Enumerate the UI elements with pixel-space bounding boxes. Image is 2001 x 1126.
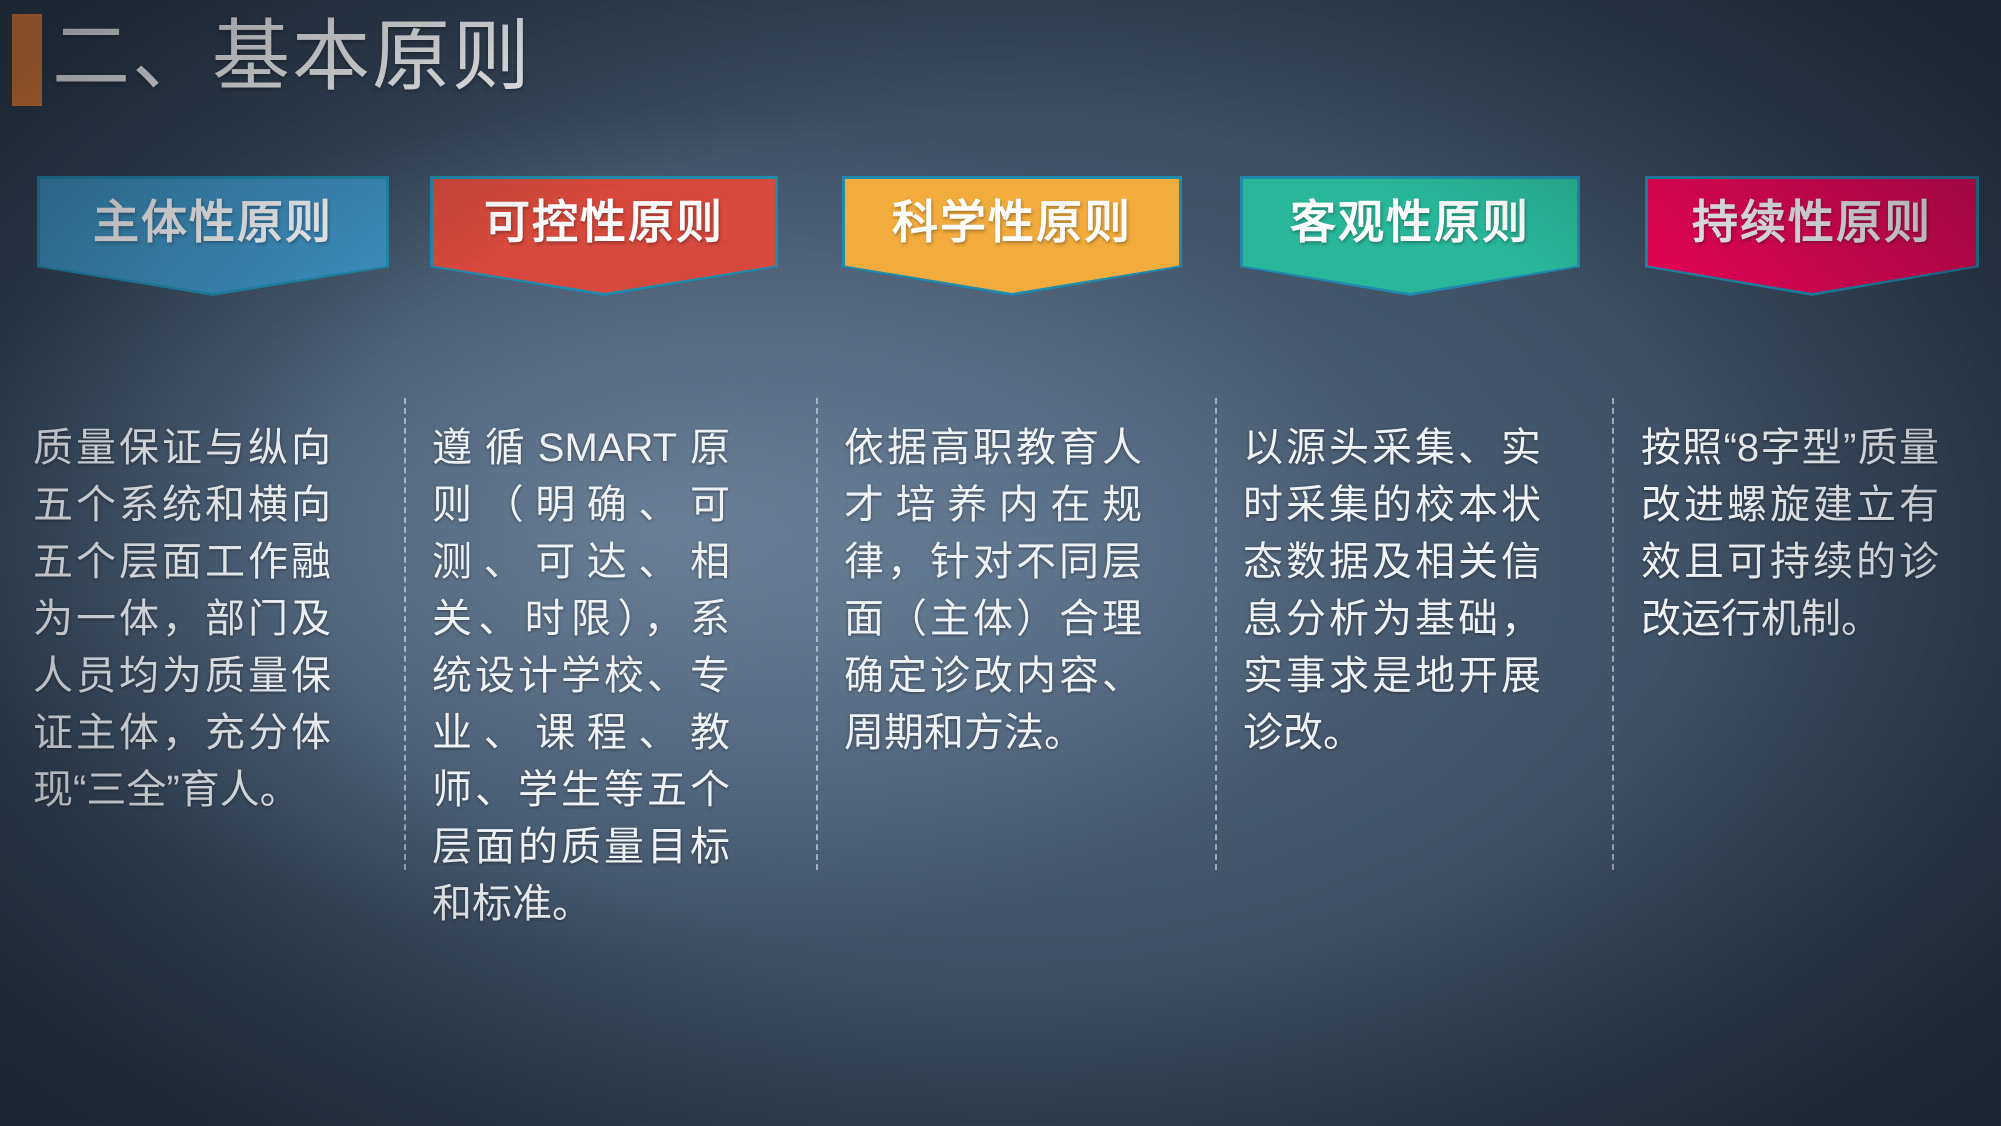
principle-label-objectivity: 客观性原则 (1290, 176, 1530, 268)
banner-inner: 科学性原则 (842, 176, 1182, 296)
principle-body-sustainability: 按照“8字型”质量改进螺旋建立有效且可持续的诊改运行机制。 (1641, 420, 1939, 648)
principle-banner-controllability[interactable]: 可控性原则 (430, 176, 778, 296)
principle-body-controllability: 遵循SMART原则（明确、可测、可达、相关、时限），系统设计学校、专业、课程、教… (432, 420, 730, 933)
principle-column-objectivity: 以源头采集、实时采集的校本状态数据及相关信息分析为基础，实事求是地开展诊改。 (1243, 420, 1541, 762)
banner-inner: 客观性原则 (1240, 176, 1580, 296)
principle-banner-scientificity[interactable]: 科学性原则 (842, 176, 1182, 296)
principle-column-sustainability: 按照“8字型”质量改进螺旋建立有效且可持续的诊改运行机制。 (1641, 420, 1939, 648)
principle-column-subjectivity: 质量保证与纵向五个系统和横向五个层面工作融为一体，部门及人员均为质量保证主体，充… (33, 420, 331, 819)
principle-body-subjectivity: 质量保证与纵向五个系统和横向五个层面工作融为一体，部门及人员均为质量保证主体，充… (33, 420, 331, 819)
column-divider-1 (404, 398, 406, 870)
principle-column-scientificity: 依据高职教育人才培养内在规律，针对不同层面（主体）合理确定诊改内容、周期和方法。 (844, 420, 1142, 762)
principle-banner-objectivity[interactable]: 客观性原则 (1240, 176, 1580, 296)
column-divider-3 (1215, 398, 1217, 870)
slide-canvas: 二、基本原则 主体性原则 可控性原则 科学性原则 客观性原则 (0, 0, 2001, 1126)
principle-label-scientificity: 科学性原则 (892, 176, 1132, 268)
banner-inner: 主体性原则 (37, 176, 389, 296)
banner-inner: 可控性原则 (430, 176, 778, 296)
principle-label-controllability: 可控性原则 (484, 176, 724, 268)
title-accent-bar (12, 14, 42, 106)
column-divider-2 (816, 398, 818, 870)
page-title: 二、基本原则 (52, 4, 532, 108)
principle-banner-sustainability[interactable]: 持续性原则 (1645, 176, 1979, 296)
slide-header: 二、基本原则 (0, 0, 2001, 120)
principle-banner-subjectivity[interactable]: 主体性原则 (37, 176, 389, 296)
principle-column-controllability: 遵循SMART原则（明确、可测、可达、相关、时限），系统设计学校、专业、课程、教… (432, 420, 730, 933)
principle-body-scientificity: 依据高职教育人才培养内在规律，针对不同层面（主体）合理确定诊改内容、周期和方法。 (844, 420, 1142, 762)
principle-label-subjectivity: 主体性原则 (93, 176, 333, 268)
banner-inner: 持续性原则 (1645, 176, 1979, 296)
principle-label-sustainability: 持续性原则 (1692, 176, 1932, 268)
principle-body-objectivity: 以源头采集、实时采集的校本状态数据及相关信息分析为基础，实事求是地开展诊改。 (1243, 420, 1541, 762)
column-divider-4 (1612, 398, 1614, 870)
